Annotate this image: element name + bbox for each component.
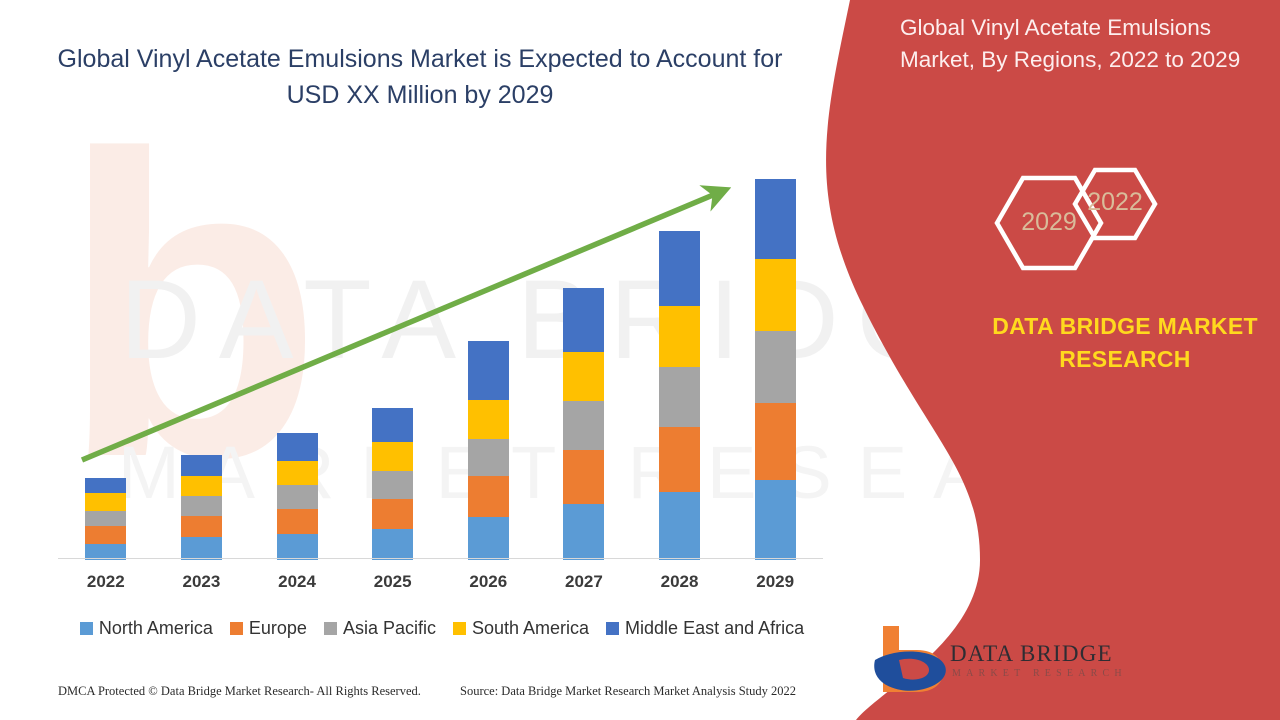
bar-group: [536, 150, 632, 560]
legend-swatch: [453, 622, 466, 635]
bar-segment[interactable]: [372, 442, 413, 471]
bar-segment[interactable]: [659, 306, 700, 368]
legend-label: North America: [99, 618, 213, 639]
x-axis-label: 2025: [345, 572, 441, 592]
footer-source: Source: Data Bridge Market Research Mark…: [460, 684, 796, 699]
bar-segment[interactable]: [85, 511, 126, 526]
bar-segment[interactable]: [181, 476, 222, 497]
logo-tagline: MARKET RESEARCH: [952, 668, 1127, 679]
stacked-bar[interactable]: [85, 478, 126, 560]
bar-segment[interactable]: [372, 499, 413, 530]
x-axis-label: 2023: [153, 572, 249, 592]
stacked-bar[interactable]: [659, 231, 700, 560]
legend-label: Europe: [249, 618, 307, 639]
legend-item[interactable]: Asia Pacific: [324, 618, 436, 639]
bar-segment[interactable]: [277, 433, 318, 461]
stacked-bar[interactable]: [372, 408, 413, 560]
bar-group: [345, 150, 441, 560]
legend-item[interactable]: Europe: [230, 618, 307, 639]
bar-segment[interactable]: [85, 493, 126, 510]
bar-segment[interactable]: [659, 367, 700, 426]
bar-segment[interactable]: [181, 516, 222, 538]
bar-group: [440, 150, 536, 560]
bar-segment[interactable]: [85, 526, 126, 543]
brand-name: DATA BRIDGE MARKET RESEARCH: [975, 310, 1275, 375]
bar-segment[interactable]: [372, 471, 413, 499]
bar-segment[interactable]: [563, 504, 604, 560]
bar-segment[interactable]: [85, 478, 126, 493]
bar-segment[interactable]: [755, 179, 796, 259]
legend-swatch: [324, 622, 337, 635]
bar-group: [727, 150, 823, 560]
stacked-bar-plot: [58, 150, 823, 560]
legend-item[interactable]: Middle East and Africa: [606, 618, 804, 639]
legend-label: South America: [472, 618, 589, 639]
bar-segment[interactable]: [468, 476, 509, 517]
bar-segment[interactable]: [755, 480, 796, 560]
bar-segment[interactable]: [563, 352, 604, 401]
stacked-bar[interactable]: [277, 433, 318, 560]
x-axis-label: 2028: [632, 572, 728, 592]
footer: DMCA Protected © Data Bridge Market Rese…: [0, 684, 845, 708]
x-axis-label: 2024: [249, 572, 345, 592]
stacked-bar[interactable]: [563, 288, 604, 560]
chart-legend: North AmericaEuropeAsia PacificSouth Ame…: [58, 616, 826, 640]
bar-segment[interactable]: [277, 485, 318, 509]
bar-segment[interactable]: [468, 517, 509, 560]
bar-segment[interactable]: [181, 455, 222, 476]
x-axis-label: 2027: [536, 572, 632, 592]
bar-segment[interactable]: [563, 401, 604, 450]
footer-copyright: DMCA Protected © Data Bridge Market Rese…: [58, 684, 421, 699]
legend-swatch: [606, 622, 619, 635]
bar-segment[interactable]: [468, 400, 509, 439]
bar-segment[interactable]: [659, 427, 700, 493]
bar-segment[interactable]: [372, 529, 413, 560]
bar-segment[interactable]: [659, 231, 700, 306]
bar-segment[interactable]: [755, 403, 796, 480]
bar-segment[interactable]: [372, 408, 413, 442]
bar-segment[interactable]: [755, 331, 796, 403]
stacked-bar[interactable]: [755, 179, 796, 560]
hexagon-2022-label: 2022: [1079, 188, 1151, 217]
x-axis-label: 2026: [440, 572, 536, 592]
x-axis-label: 2029: [727, 572, 823, 592]
legend-swatch: [230, 622, 243, 635]
bar-segment[interactable]: [277, 509, 318, 535]
legend-label: Asia Pacific: [343, 618, 436, 639]
bar-group: [249, 150, 345, 560]
bar-segment[interactable]: [468, 341, 509, 400]
bar-group: [632, 150, 728, 560]
bar-segment[interactable]: [181, 496, 222, 515]
bar-segment[interactable]: [277, 461, 318, 486]
bar-group: [153, 150, 249, 560]
bar-group: [58, 150, 154, 560]
bar-segment[interactable]: [563, 450, 604, 503]
hexagon-badges: 2029 2022: [985, 158, 1185, 288]
chart-baseline: [58, 558, 823, 559]
legend-item[interactable]: North America: [80, 618, 213, 639]
stacked-bar[interactable]: [468, 341, 509, 560]
bar-segment[interactable]: [755, 259, 796, 332]
legend-item[interactable]: South America: [453, 618, 589, 639]
bar-segment[interactable]: [181, 537, 222, 560]
x-axis-labels: 20222023202420252026202720282029: [58, 572, 823, 598]
stacked-bar[interactable]: [181, 455, 222, 560]
legend-swatch: [80, 622, 93, 635]
bar-segment[interactable]: [659, 492, 700, 560]
legend-label: Middle East and Africa: [625, 618, 804, 639]
logo-wordmark: DATA BRIDGE: [950, 641, 1113, 667]
panel-title: Global Vinyl Acetate Emulsions Market, B…: [900, 12, 1264, 76]
bar-segment[interactable]: [277, 534, 318, 560]
x-axis-label: 2022: [58, 572, 154, 592]
bar-segment[interactable]: [563, 288, 604, 352]
chart-title: Global Vinyl Acetate Emulsions Market is…: [50, 42, 790, 113]
infographic-canvas: b DATA BRIDGE MARKET RESEARCH Global Vin…: [0, 0, 1280, 720]
bar-segment[interactable]: [468, 439, 509, 476]
